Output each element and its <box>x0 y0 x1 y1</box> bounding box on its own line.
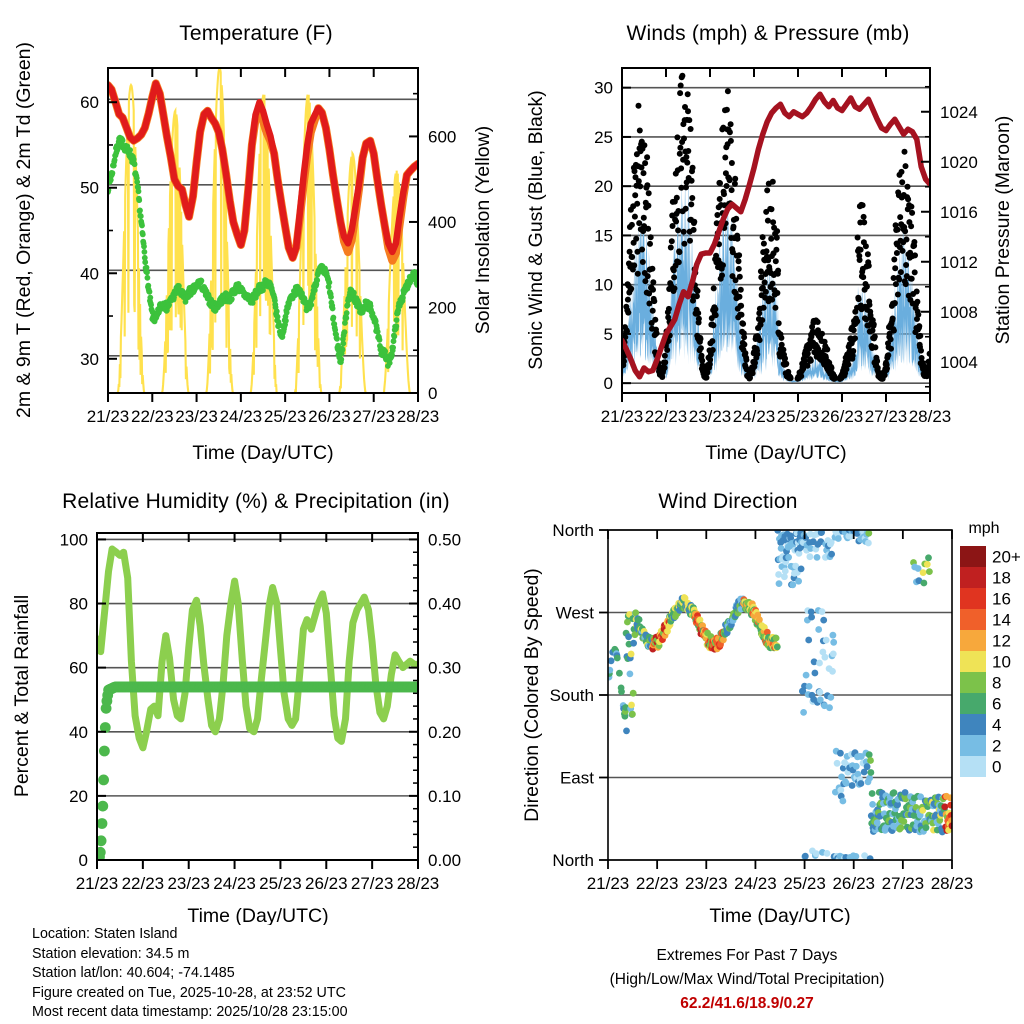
svg-text:21/23: 21/23 <box>587 874 630 893</box>
svg-text:16: 16 <box>992 590 1011 609</box>
svg-text:5: 5 <box>604 325 613 344</box>
svg-text:26/23: 26/23 <box>832 874 875 893</box>
winds-ylabel: Sonic Wind & Gust (Blue, Black) <box>525 90 547 370</box>
temperature-ylabel: 2m & 9m T (Red, Orange) & 2m Td (Green) <box>13 42 35 418</box>
svg-text:21/23: 21/23 <box>87 407 130 426</box>
svg-text:22/23: 22/23 <box>122 874 165 893</box>
svg-text:50: 50 <box>80 179 99 198</box>
svg-text:22/23: 22/23 <box>131 407 174 426</box>
colorbar-title: mph <box>968 520 999 537</box>
wind-direction-gridlines <box>608 530 952 860</box>
panel-winds-title: Winds (mph) & Pressure (mb) <box>512 22 1024 46</box>
svg-text:22/23: 22/23 <box>636 874 679 893</box>
svg-text:0.30: 0.30 <box>428 659 461 678</box>
temperature-chart: 30405060 0200400600 21/2322/2323/2324/23… <box>0 0 512 470</box>
svg-text:0: 0 <box>428 384 437 403</box>
svg-text:0: 0 <box>79 851 88 870</box>
temperature-left-ticks: 30405060 <box>80 93 117 369</box>
svg-text:21/23: 21/23 <box>76 874 119 893</box>
wind-direction-ylabel: Direction (Colored By Speed) <box>521 568 543 822</box>
svg-text:1016: 1016 <box>940 203 978 222</box>
wind-speed-colorbar: 20+181614121086420 <box>960 546 1021 777</box>
elevation-line: Station elevation: 34.5 m <box>32 945 348 965</box>
svg-text:26/23: 26/23 <box>305 874 348 893</box>
svg-text:24/23: 24/23 <box>220 407 263 426</box>
temperature-y2label: Solar Insolation (Yellow) <box>472 126 494 334</box>
svg-text:24/23: 24/23 <box>213 874 256 893</box>
created-line: Figure created on Tue, 2025-10-28, at 23… <box>32 984 348 1004</box>
svg-text:27/23: 27/23 <box>882 874 925 893</box>
svg-text:23/23: 23/23 <box>685 874 728 893</box>
location-line: Location: Staten Island <box>32 925 348 945</box>
svg-text:40: 40 <box>80 264 99 283</box>
extremes-values: 62.2/41.6/18.9/0.27 <box>512 992 982 1016</box>
svg-text:28/23: 28/23 <box>397 874 440 893</box>
panel-wind-direction-title: Wind Direction <box>472 490 984 514</box>
humidity-right-ticks: 0.000.100.200.300.400.50 <box>409 530 461 870</box>
recent-data-line: Most recent data timestamp: 2025/10/28 2… <box>32 1003 348 1023</box>
svg-text:14: 14 <box>992 611 1011 630</box>
relative-humidity-series <box>97 549 418 748</box>
panel-temperature: Temperature (F) 30405060 <box>0 0 512 470</box>
svg-text:80: 80 <box>69 595 88 614</box>
svg-text:24/23: 24/23 <box>734 874 777 893</box>
weather-dashboard: Temperature (F) 30405060 <box>0 0 1024 1024</box>
svg-text:0: 0 <box>992 758 1001 777</box>
svg-text:12: 12 <box>992 632 1011 651</box>
svg-text:0.10: 0.10 <box>428 787 461 806</box>
svg-text:North: North <box>552 851 594 870</box>
svg-text:0.00: 0.00 <box>428 851 461 870</box>
svg-text:21/23: 21/23 <box>601 407 644 426</box>
svg-text:20+: 20+ <box>992 548 1021 567</box>
temperature-series-group <box>105 68 420 393</box>
svg-text:18: 18 <box>992 569 1011 588</box>
svg-text:0.50: 0.50 <box>428 530 461 549</box>
humidity-series-group <box>92 549 423 865</box>
svg-text:27/23: 27/23 <box>865 407 908 426</box>
panel-humidity-title: Relative Humidity (%) & Precipitation (i… <box>0 490 512 514</box>
svg-text:28/23: 28/23 <box>397 407 440 426</box>
svg-text:North: North <box>552 521 594 540</box>
station-metadata: Location: Staten Island Station elevatio… <box>32 925 348 1023</box>
svg-text:4: 4 <box>992 716 1001 735</box>
svg-text:60: 60 <box>80 93 99 112</box>
humidity-precip-chart: 020406080100 0.000.100.200.300.400.50 21… <box>0 470 512 925</box>
winds-y2label: Station Pressure (Maroon) <box>992 116 1014 345</box>
svg-text:25/23: 25/23 <box>259 874 302 893</box>
wind-direction-xlabel: Time (Day/UTC) <box>709 905 850 925</box>
svg-text:27/23: 27/23 <box>351 874 394 893</box>
svg-text:27/23: 27/23 <box>352 407 395 426</box>
winds-pressure-chart: 051015202530 100410081012101610201024 21… <box>512 0 1024 470</box>
svg-text:1004: 1004 <box>940 353 978 372</box>
svg-text:0: 0 <box>604 374 613 393</box>
svg-text:40: 40 <box>69 723 88 742</box>
svg-text:25/23: 25/23 <box>783 874 826 893</box>
svg-text:East: East <box>560 769 594 788</box>
temperature-xlabel: Time (Day/UTC) <box>192 442 333 464</box>
humidity-xlabel: Time (Day/UTC) <box>187 905 328 925</box>
svg-text:1020: 1020 <box>940 153 978 172</box>
svg-text:6: 6 <box>992 695 1001 714</box>
svg-text:25/23: 25/23 <box>264 407 307 426</box>
svg-text:8: 8 <box>992 674 1001 693</box>
svg-text:0.20: 0.20 <box>428 723 461 742</box>
svg-text:2: 2 <box>992 737 1001 756</box>
svg-text:South: South <box>550 686 594 705</box>
svg-text:25: 25 <box>594 128 613 147</box>
extremes-title: Extremes For Past 7 Days <box>512 944 982 968</box>
svg-text:24/23: 24/23 <box>733 407 776 426</box>
svg-text:200: 200 <box>428 298 456 317</box>
svg-text:20: 20 <box>594 177 613 196</box>
svg-text:23/23: 23/23 <box>689 407 732 426</box>
svg-text:23/23: 23/23 <box>167 874 210 893</box>
panel-temperature-title: Temperature (F) <box>0 22 512 46</box>
svg-text:20: 20 <box>69 787 88 806</box>
svg-text:23/23: 23/23 <box>175 407 218 426</box>
wind-direction-chart: NorthEastSouthWestNorth 21/2322/2323/232… <box>512 470 1024 925</box>
svg-text:22/23: 22/23 <box>645 407 688 426</box>
winds-xlabel: Time (Day/UTC) <box>705 442 846 464</box>
svg-text:28/23: 28/23 <box>909 407 952 426</box>
svg-text:60: 60 <box>69 659 88 678</box>
svg-text:26/23: 26/23 <box>308 407 351 426</box>
panel-humidity-precip: Relative Humidity (%) & Precipitation (i… <box>0 470 512 925</box>
svg-text:25/23: 25/23 <box>777 407 820 426</box>
panel-winds-pressure: Winds (mph) & Pressure (mb) 051015202530… <box>512 0 1024 470</box>
svg-text:26/23: 26/23 <box>821 407 864 426</box>
svg-text:1012: 1012 <box>940 253 978 272</box>
svg-text:600: 600 <box>428 127 456 146</box>
svg-text:0.40: 0.40 <box>428 595 461 614</box>
svg-text:30: 30 <box>594 79 613 98</box>
svg-text:30: 30 <box>80 350 99 369</box>
humidity-gridlines <box>97 539 418 795</box>
wind-direction-y-ticks: NorthEastSouthWestNorth <box>550 521 608 870</box>
extremes-summary: Extremes For Past 7 Days (High/Low/Max W… <box>512 944 982 1016</box>
latlon-line: Station lat/lon: 40.604; -74.1485 <box>32 964 348 984</box>
svg-text:28/23: 28/23 <box>931 874 974 893</box>
svg-text:400: 400 <box>428 213 456 232</box>
svg-text:1024: 1024 <box>940 103 978 122</box>
svg-text:15: 15 <box>594 226 613 245</box>
svg-text:1008: 1008 <box>940 303 978 322</box>
svg-text:10: 10 <box>992 653 1011 672</box>
extremes-subtitle: (High/Low/Max Wind/Total Precipitation) <box>512 968 982 992</box>
svg-text:West: West <box>556 604 595 623</box>
svg-text:10: 10 <box>594 276 613 295</box>
humidity-ylabel: Percent & Total Rainfall <box>11 595 33 797</box>
winds-series-group <box>619 73 933 383</box>
svg-text:100: 100 <box>60 530 88 549</box>
panel-wind-direction: Wind Direction NorthEastSouthWestNorth 2… <box>512 470 1024 925</box>
